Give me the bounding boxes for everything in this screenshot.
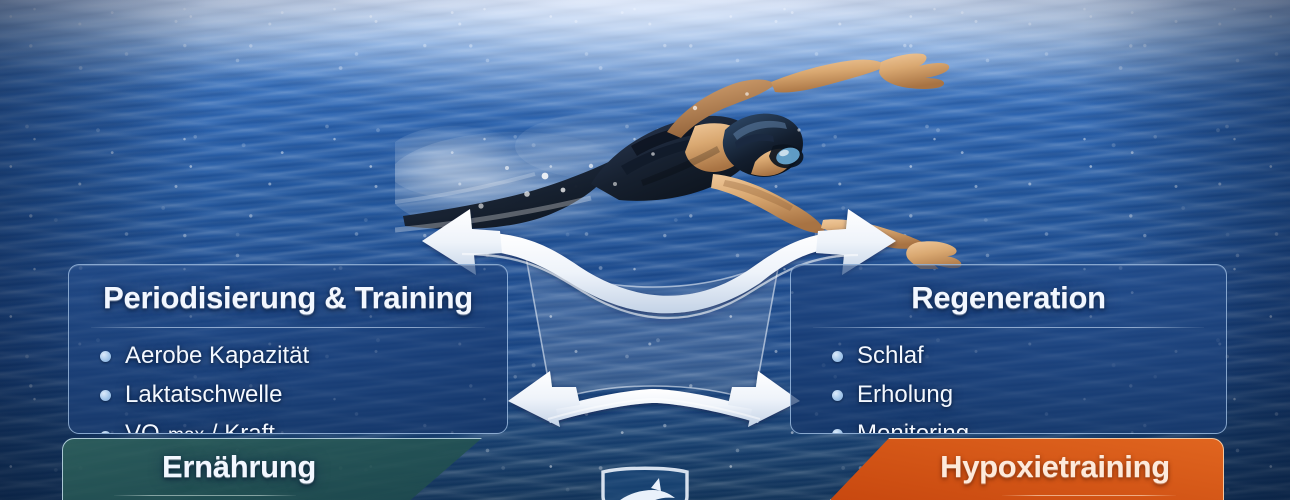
title-divider [114, 495, 296, 496]
list-item: VO2max / Kraft [100, 422, 507, 434]
list-item: Monitoring [832, 422, 1226, 434]
bullet-dot-icon [100, 390, 111, 401]
bullet-label: Schlaf [857, 344, 924, 368]
bullet-dot-icon [832, 351, 843, 362]
panel-hypoxietraining[interactable]: Hypoxietraining [830, 438, 1224, 500]
panel-periodisierung-training[interactable]: Periodisierung & Training Aerobe Kapazit… [68, 264, 508, 434]
panel-title-ernaehrung: Ernährung [62, 449, 416, 485]
bullet-label: Monitoring [857, 422, 969, 434]
panel-title-periodisierung: Periodisierung & Training [69, 280, 507, 316]
bullet-dot-icon [832, 390, 843, 401]
title-divider [813, 327, 1204, 328]
bullet-dot-icon [832, 429, 843, 435]
bullet-dot-icon [100, 431, 111, 434]
bullet-label: Erholung [857, 383, 953, 407]
panel-regeneration[interactable]: Regeneration Schlaf Erholung Monitoring [790, 264, 1227, 434]
bullet-label-vo2max: VO2max / Kraft [125, 422, 275, 434]
panel-header: Hypoxietraining [830, 438, 1224, 496]
list-item: Erholung [832, 383, 1226, 407]
panel-header: Regeneration [791, 265, 1226, 316]
bullet-list-regeneration: Schlaf Erholung Monitoring [832, 344, 1226, 434]
vo-prefix: VO [125, 420, 160, 434]
list-item: Aerobe Kapazität [100, 344, 507, 368]
bullet-label: Laktatschwelle [125, 383, 282, 407]
panel-title-hypoxietraining: Hypoxietraining [886, 449, 1224, 485]
vo-max: max [168, 425, 204, 434]
title-divider [91, 327, 485, 328]
list-item: Laktatschwelle [100, 383, 507, 407]
bullet-list-periodisierung: Aerobe Kapazität Laktatschwelle VO2max /… [100, 344, 507, 434]
shield-shark-emblem [597, 466, 693, 500]
panel-header: Ernährung [62, 438, 482, 496]
panel-ernaehrung[interactable]: Ernährung [62, 438, 482, 500]
bullet-dot-icon [100, 351, 111, 362]
bullet-label: Aerobe Kapazität [125, 344, 309, 368]
panel-header: Periodisierung & Training [69, 265, 507, 316]
list-item: Schlaf [832, 344, 1226, 368]
title-divider [1002, 495, 1176, 496]
panel-title-regeneration: Regeneration [791, 280, 1226, 316]
vo-suffix: / Kraft [204, 420, 275, 434]
infographic-canvas: Periodisierung & Training Aerobe Kapazit… [0, 0, 1290, 500]
